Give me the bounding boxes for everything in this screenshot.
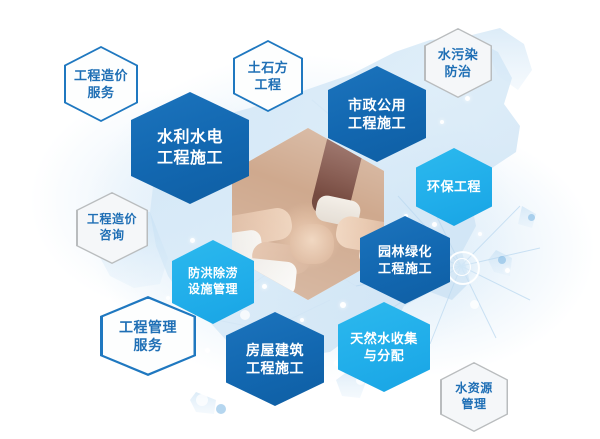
particle-dot xyxy=(505,268,510,273)
infographic-canvas: 工程造价 服务 土石方 工程 水污染 防治 水利水电 工程施工 市政公用 工程施… xyxy=(0,0,600,439)
hex-label: 房屋建筑 工程施工 xyxy=(246,341,304,378)
particle-dot xyxy=(440,120,444,124)
hex-badge-water-conservancy-hydropower[interactable]: 水利水电 工程施工 xyxy=(131,92,249,204)
particle-dot xyxy=(205,348,210,353)
hex-badge-water-resource-management[interactable]: 水资源 管理 xyxy=(440,362,508,432)
hex-label: 水污染 防治 xyxy=(438,46,479,80)
hex-badge-environmental-engineering[interactable]: 环保工程 xyxy=(416,148,492,226)
network-node-inner-ring xyxy=(453,258,471,276)
hex-badge-landscape-greening[interactable]: 园林绿化 工程施工 xyxy=(360,216,450,304)
hex-badge-engineering-management-service[interactable]: 工程管理 服务 xyxy=(100,296,196,376)
particle-dot xyxy=(262,284,267,289)
particle-soft-dot xyxy=(196,394,208,406)
hex-badge-water-pollution-control[interactable]: 水污染 防治 xyxy=(424,28,492,98)
hex-badge-municipal-public-works[interactable]: 市政公用 工程施工 xyxy=(328,66,426,162)
hex-badge-engineering-cost-consulting[interactable]: 工程造价 咨询 xyxy=(76,192,148,264)
hex-label: 园林绿化 工程施工 xyxy=(378,243,432,277)
particle-blue-dot xyxy=(498,256,506,264)
hex-badge-building-construction[interactable]: 房屋建筑 工程施工 xyxy=(226,312,324,406)
hex-badge-natural-water-collection[interactable]: 天然水收集 与分配 xyxy=(338,302,430,392)
particle-dot xyxy=(478,232,482,236)
hex-label: 工程管理 服务 xyxy=(119,318,177,355)
hex-label: 工程造价 服务 xyxy=(74,67,128,101)
particle-dot xyxy=(366,392,371,397)
hex-label: 市政公用 工程施工 xyxy=(348,96,406,133)
hex-label: 水利水电 工程施工 xyxy=(157,127,223,169)
hex-label: 天然水收集 与分配 xyxy=(350,330,418,364)
particle-soft-dot xyxy=(470,300,479,309)
particle-blue-dot xyxy=(216,404,226,414)
particle-blue-dot xyxy=(528,214,535,221)
hex-label: 环保工程 xyxy=(427,178,481,195)
hex-label: 防洪除涝 设施管理 xyxy=(188,266,238,298)
hex-label: 水资源 管理 xyxy=(455,381,493,413)
hex-label: 土石方 工程 xyxy=(248,59,289,93)
hex-badge-engineering-cost-service[interactable]: 工程造价 服务 xyxy=(64,46,138,122)
hex-label: 工程造价 咨询 xyxy=(87,212,137,244)
